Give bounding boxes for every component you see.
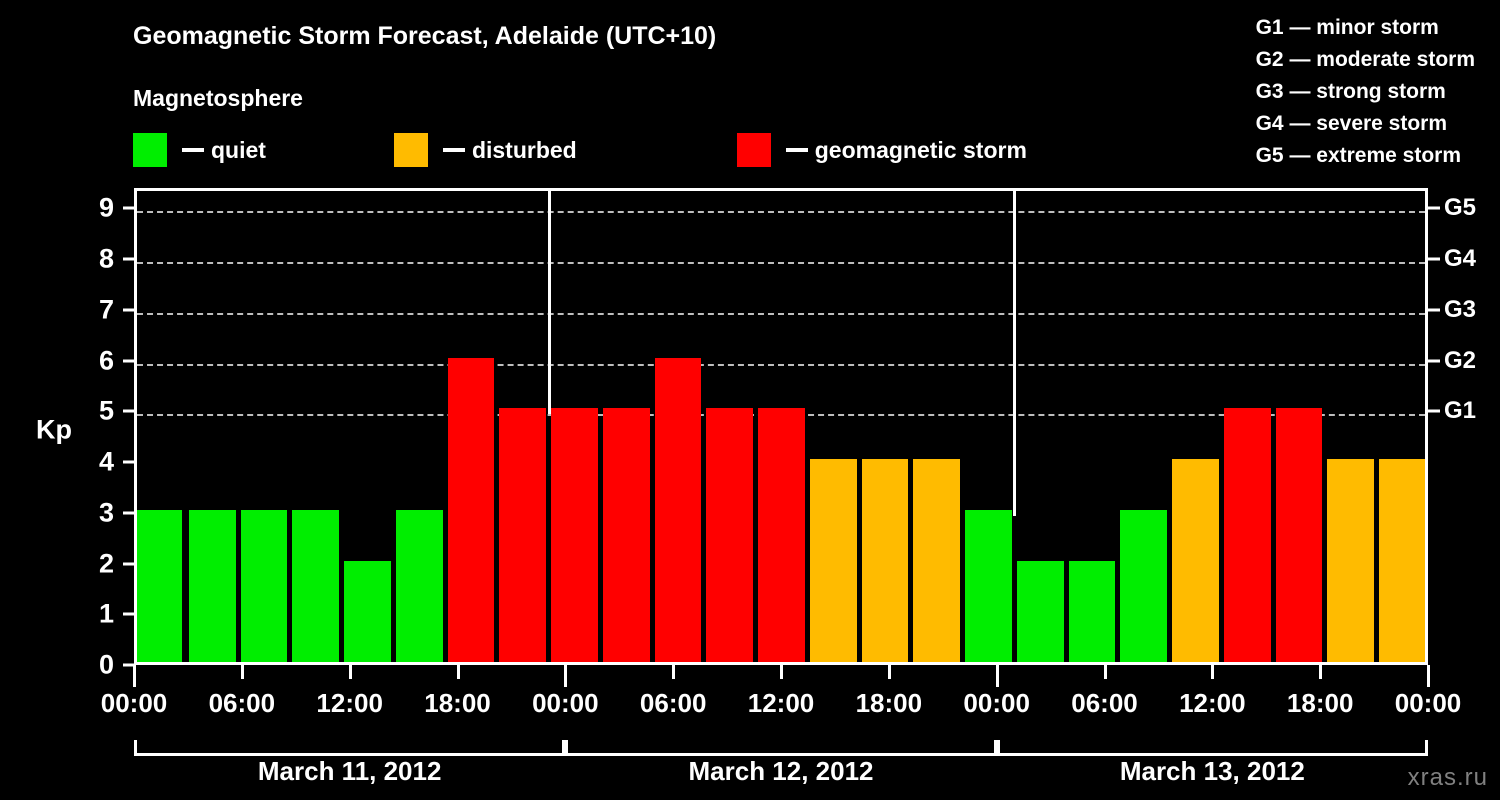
y-tick-label-2: 2: [78, 548, 114, 579]
bar: [292, 510, 339, 662]
x-tick-label-5: 06:00: [640, 688, 707, 719]
y-tick-label-0: 0: [78, 650, 114, 681]
y-tick-mark-4: [123, 461, 134, 464]
legend-swatch-storm: [737, 133, 771, 167]
g-tick-label-g3: G3: [1444, 296, 1476, 324]
bar: [189, 510, 236, 662]
x-tick-mark-3: [457, 665, 460, 679]
g-tick-mark-g4: [1428, 258, 1440, 261]
x-tick-label-12: 00:00: [1395, 688, 1462, 719]
g-tick-label-g2: G2: [1444, 347, 1476, 375]
x-tick-label-8: 00:00: [963, 688, 1030, 719]
legend-label-disturbed: disturbed: [472, 137, 577, 164]
bar: [344, 561, 391, 662]
day-divider-1: [548, 191, 551, 414]
bar: [551, 408, 598, 662]
date-label-2: March 12, 2012: [688, 756, 873, 787]
g-tick-label-g5: G5: [1444, 194, 1476, 222]
bar: [706, 408, 753, 662]
g-tick-mark-g2: [1428, 359, 1440, 362]
bar: [1017, 561, 1064, 662]
legend-label-storm: geomagnetic storm: [815, 137, 1027, 164]
bar: [913, 459, 960, 662]
x-tick-label-0: 00:00: [101, 688, 168, 719]
legend-dash-icon: [182, 148, 204, 152]
x-tick-mark-7: [888, 665, 891, 679]
page-title: Geomagnetic Storm Forecast, Adelaide (UT…: [133, 22, 716, 51]
legend-swatch-quiet: [133, 133, 167, 167]
x-tick-label-1: 06:00: [209, 688, 276, 719]
g-tick-label-g1: G1: [1444, 397, 1476, 425]
bar: [396, 510, 443, 662]
bar: [1172, 459, 1219, 662]
gridline-kp-9: [137, 211, 1425, 213]
bar: [448, 358, 495, 662]
y-tick-mark-5: [123, 410, 134, 413]
x-tick-mark-1: [241, 665, 244, 679]
section-heading: Magnetosphere: [133, 85, 303, 112]
bar: [241, 510, 288, 662]
bar: [1069, 561, 1116, 662]
gridline-kp-7: [137, 313, 1425, 315]
bar: [137, 510, 182, 662]
y-tick-mark-9: [123, 207, 134, 210]
watermark: xras.ru: [1408, 764, 1488, 792]
gridline-kp-8: [137, 262, 1425, 264]
date-bracket-3: [997, 740, 1428, 756]
g-scale-row-g4: G4 — severe storm: [1256, 108, 1475, 140]
g-scale-row-g2: G2 — moderate storm: [1256, 44, 1475, 76]
y-tick-label-1: 1: [78, 599, 114, 630]
chart-root: Geomagnetic Storm Forecast, Adelaide (UT…: [0, 0, 1500, 800]
bar: [499, 408, 546, 662]
bar: [965, 510, 1012, 662]
legend-entry-disturbed: disturbed: [394, 133, 577, 167]
gridline-kp-6: [137, 364, 1425, 366]
x-tick-mark-12: [1427, 665, 1430, 687]
y-axis-title: Kp: [36, 415, 72, 446]
x-tick-mark-6: [780, 665, 783, 679]
legend-entry-quiet: quiet: [133, 133, 266, 167]
y-tick-label-3: 3: [78, 497, 114, 528]
bar: [1276, 408, 1323, 662]
x-tick-label-4: 00:00: [532, 688, 599, 719]
y-tick-label-5: 5: [78, 396, 114, 427]
y-tick-mark-8: [123, 258, 134, 261]
x-tick-label-3: 18:00: [424, 688, 491, 719]
x-tick-label-6: 12:00: [748, 688, 815, 719]
y-tick-label-7: 7: [78, 294, 114, 325]
legend-swatch-disturbed: [394, 133, 428, 167]
date-bracket-2: [565, 740, 996, 756]
g-scale-row-g5: G5 — extreme storm: [1256, 140, 1475, 172]
x-tick-label-11: 18:00: [1287, 688, 1354, 719]
g-tick-mark-g1: [1428, 410, 1440, 413]
date-label-3: March 13, 2012: [1120, 756, 1305, 787]
g-scale-legend: G1 — minor stormG2 — moderate stormG3 — …: [1256, 12, 1475, 172]
bar: [1327, 459, 1374, 662]
plot-area: [134, 188, 1428, 665]
g-scale-row-g3: G3 — strong storm: [1256, 76, 1475, 108]
y-tick-label-8: 8: [78, 244, 114, 275]
y-tick-mark-2: [123, 562, 134, 565]
x-tick-mark-11: [1319, 665, 1322, 679]
y-tick-label-6: 6: [78, 345, 114, 376]
g-scale-row-g1: G1 — minor storm: [1256, 12, 1475, 44]
x-tick-mark-5: [672, 665, 675, 679]
bar: [1379, 459, 1425, 662]
x-tick-mark-0: [133, 665, 136, 687]
legend-label-quiet: quiet: [211, 137, 266, 164]
bar: [810, 459, 857, 662]
y-tick-mark-6: [123, 359, 134, 362]
x-tick-label-10: 12:00: [1179, 688, 1246, 719]
bar: [758, 408, 805, 662]
x-tick-label-2: 12:00: [316, 688, 383, 719]
g-tick-label-g4: G4: [1444, 245, 1476, 273]
date-bracket-1: [134, 740, 565, 756]
g-tick-mark-g3: [1428, 308, 1440, 311]
date-label-1: March 11, 2012: [258, 756, 442, 787]
y-tick-mark-7: [123, 308, 134, 311]
bar: [655, 358, 702, 662]
bar: [862, 459, 909, 662]
x-tick-label-9: 06:00: [1071, 688, 1138, 719]
y-tick-label-4: 4: [78, 447, 114, 478]
x-tick-mark-2: [349, 665, 352, 679]
legend-dash-icon: [786, 148, 808, 152]
y-tick-label-9: 9: [78, 193, 114, 224]
x-tick-mark-9: [1104, 665, 1107, 679]
bar: [603, 408, 650, 662]
legend-dash-icon: [443, 148, 465, 152]
bar: [1224, 408, 1271, 662]
legend-entry-storm: geomagnetic storm: [737, 133, 1027, 167]
y-tick-mark-3: [123, 511, 134, 514]
plot-inner: [137, 191, 1425, 662]
g-tick-mark-g5: [1428, 207, 1440, 210]
x-tick-label-7: 18:00: [856, 688, 923, 719]
bar: [1120, 510, 1167, 662]
day-divider-2: [1013, 191, 1016, 516]
color-legend: quietdisturbedgeomagnetic storm: [133, 132, 1027, 168]
x-tick-mark-8: [996, 665, 999, 687]
x-tick-mark-10: [1211, 665, 1214, 679]
y-tick-mark-1: [123, 613, 134, 616]
x-tick-mark-4: [564, 665, 567, 687]
